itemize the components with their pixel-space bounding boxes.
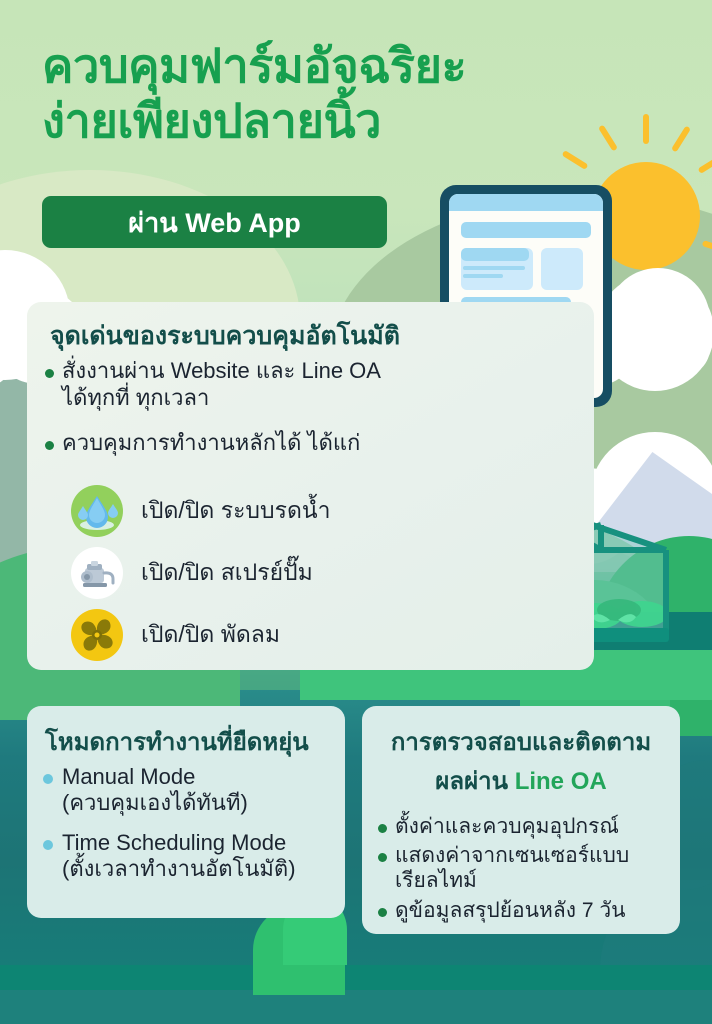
list-item-label: แสดงค่าจากเซนเซอร์แบบ เรียลไทม์: [395, 843, 629, 893]
monitoring-heading: การตรวจสอบและติดตาม ผลผ่าน Line OA: [362, 722, 680, 800]
list-item: แสดงค่าจากเซนเซอร์แบบ เรียลไทม์: [378, 843, 670, 893]
list-item-line-b: เรียลไทม์: [395, 869, 477, 892]
page-title-line1: ควบคุมฟาร์มอัจฉริยะ: [42, 39, 466, 92]
operation-modes-card: โหมดการทำงานที่ยืดหยุ่น Manual Mode (ควบ…: [27, 706, 345, 918]
list-item-label: ควบคุมการทำงานหลักได้ ได้แก่: [62, 430, 360, 457]
page-title: ควบคุมฟาร์มอัจฉริยะ ง่ายเพียงปลายนิ้ว: [42, 38, 602, 149]
list-item: ดูข้อมูลสรุปย้อนหลัง 7 วัน: [378, 898, 670, 923]
web-app-badge: ผ่าน Web App: [42, 196, 387, 248]
sun-ray: [671, 126, 691, 153]
list-item-line-a: สั่งงานผ่าน Website และ Line OA: [62, 358, 381, 383]
feature-label-spray-pump: เปิด/ปิด สเปรย์ปั๊ม: [141, 555, 313, 591]
bullet-dot: [43, 840, 53, 850]
mode-subtitle: (ตั้งเวลาทำงานอัตโนมัติ): [62, 856, 296, 882]
feature-label-fan: เปิด/ปิด พัดลม: [141, 617, 280, 653]
feature-row-fan[interactable]: เปิด/ปิด พัดลม: [71, 609, 280, 661]
feature-row-watering[interactable]: เปิด/ปิด ระบบรดน้ำ: [71, 485, 331, 537]
monitoring-heading-line2-prefix: ผลผ่าน: [435, 768, 514, 795]
operation-modes-heading: โหมดการทำงานที่ยืดหยุ่น: [45, 722, 345, 761]
bullet-dot: [45, 369, 54, 378]
features-card: จุดเด่นของระบบควบคุมอัตโนมัติ สั่งงานผ่า…: [27, 302, 594, 670]
web-app-badge-label: ผ่าน Web App: [128, 201, 300, 244]
bullet-dot: [378, 908, 387, 917]
water-pump-icon: [71, 547, 123, 599]
list-item-line-a: แสดงค่าจากเซนเซอร์แบบ: [395, 844, 629, 867]
list-item: Manual Mode (ควบคุมเองได้ทันที): [43, 764, 335, 816]
list-item: Time Scheduling Mode (ตั้งเวลาทำงานอัตโน…: [43, 830, 335, 882]
sun-ray: [562, 150, 589, 170]
list-item-label: Time Scheduling Mode (ตั้งเวลาทำงานอัตโน…: [62, 830, 296, 882]
list-item-label: ตั้งค่าและควบคุมอุปกรณ์: [395, 814, 619, 839]
monitoring-heading-line1: การตรวจสอบและติดตาม: [391, 729, 651, 756]
bullet-dot: [378, 853, 387, 862]
water-drop-icon: [71, 485, 123, 537]
list-item: ตั้งค่าและควบคุมอุปกรณ์: [378, 814, 670, 839]
sun-ray: [702, 240, 712, 254]
operation-modes-list: Manual Mode (ควบคุมเองได้ทันที) Time Sch…: [43, 764, 335, 891]
monitoring-heading-accent: Line OA: [515, 768, 607, 795]
list-item-label: ดูข้อมูลสรุปย้อนหลัง 7 วัน: [395, 898, 625, 923]
features-card-heading: จุดเด่นของระบบควบคุมอัตโนมัติ: [50, 316, 400, 356]
bullet-dot: [43, 774, 53, 784]
app-text-line: [463, 274, 503, 278]
fan-icon: [71, 609, 123, 661]
page-title-line2: ง่ายเพียงปลายนิ้ว: [42, 93, 602, 148]
sun-ray: [698, 154, 712, 174]
list-item: ควบคุมการทำงานหลักได้ ได้แก่: [45, 430, 465, 457]
infographic-poster: ควบคุมฟาร์มอัจฉริยะ ง่ายเพียงปลายนิ้ว ผ่…: [0, 0, 712, 1024]
app-topbar: [449, 194, 603, 211]
mode-title: Manual Mode: [62, 764, 195, 789]
app-panel-title: [461, 248, 529, 261]
app-panel-side: [541, 248, 583, 290]
list-item-label: Manual Mode (ควบคุมเองได้ทันที): [62, 764, 248, 816]
sun-ray: [643, 114, 649, 144]
features-bullet-list: สั่งงานผ่าน Website และ Line OA ได้ทุกที…: [45, 358, 465, 469]
list-item: สั่งงานผ่าน Website และ Line OA ได้ทุกที…: [45, 358, 465, 412]
feature-label-watering: เปิด/ปิด ระบบรดน้ำ: [141, 493, 331, 529]
mode-title: Time Scheduling Mode: [62, 830, 286, 855]
list-item-line-b: ได้ทุกที่ ทุกเวลา: [62, 385, 209, 410]
bottom-band: [0, 990, 712, 1024]
app-text-line: [463, 266, 525, 270]
feature-row-spray-pump[interactable]: เปิด/ปิด สเปรย์ปั๊ม: [71, 547, 313, 599]
mode-subtitle: (ควบคุมเองได้ทันที): [62, 790, 248, 816]
bullet-dot: [45, 441, 54, 450]
monitoring-card: การตรวจสอบและติดตาม ผลผ่าน Line OA ตั้งค…: [362, 706, 680, 934]
app-header-bar: [461, 222, 591, 238]
list-item-label: สั่งงานผ่าน Website และ Line OA ได้ทุกที…: [62, 358, 381, 412]
monitoring-list: ตั้งค่าและควบคุมอุปกรณ์ แสดงค่าจากเซนเซอ…: [378, 814, 670, 932]
bullet-dot: [378, 824, 387, 833]
